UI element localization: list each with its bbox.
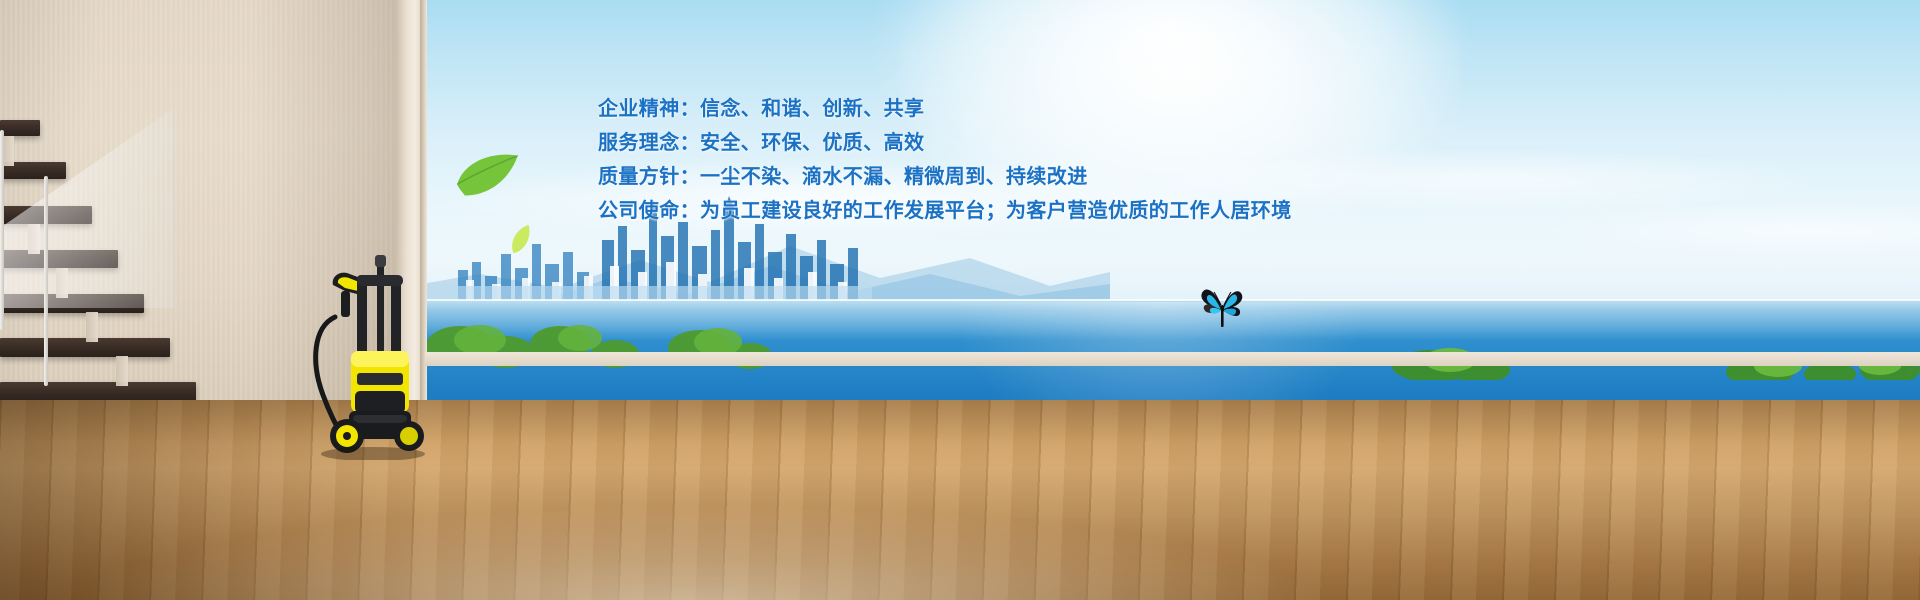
wood-floor [0,400,1920,600]
slogan-line-2: 服务理念：安全、环保、优质、高效 [598,126,1358,160]
company-culture-banner: 企业精神：信念、和谐、创新、共享 服务理念：安全、环保、优质、高效 质量方针：一… [0,0,1920,600]
railing-post [44,176,48,386]
slogan-text-block: 企业精神：信念、和谐、创新、共享 服务理念：安全、环保、优质、高效 质量方针：一… [598,92,1358,228]
railing-post [0,130,4,330]
slogan-line-3: 质量方针：一尘不染、滴水不漏、精微周到、持续改进 [598,160,1358,194]
leaf-icon [449,145,527,203]
high-pressure-washer [305,255,425,460]
slogan-line-1: 企业精神：信念、和谐、创新、共享 [598,92,1358,126]
butterfly-icon [1196,283,1248,335]
slogan-line-4: 公司使命：为员工建设良好的工作发展平台；为客户营造优质的工作人居环境 [598,194,1358,228]
